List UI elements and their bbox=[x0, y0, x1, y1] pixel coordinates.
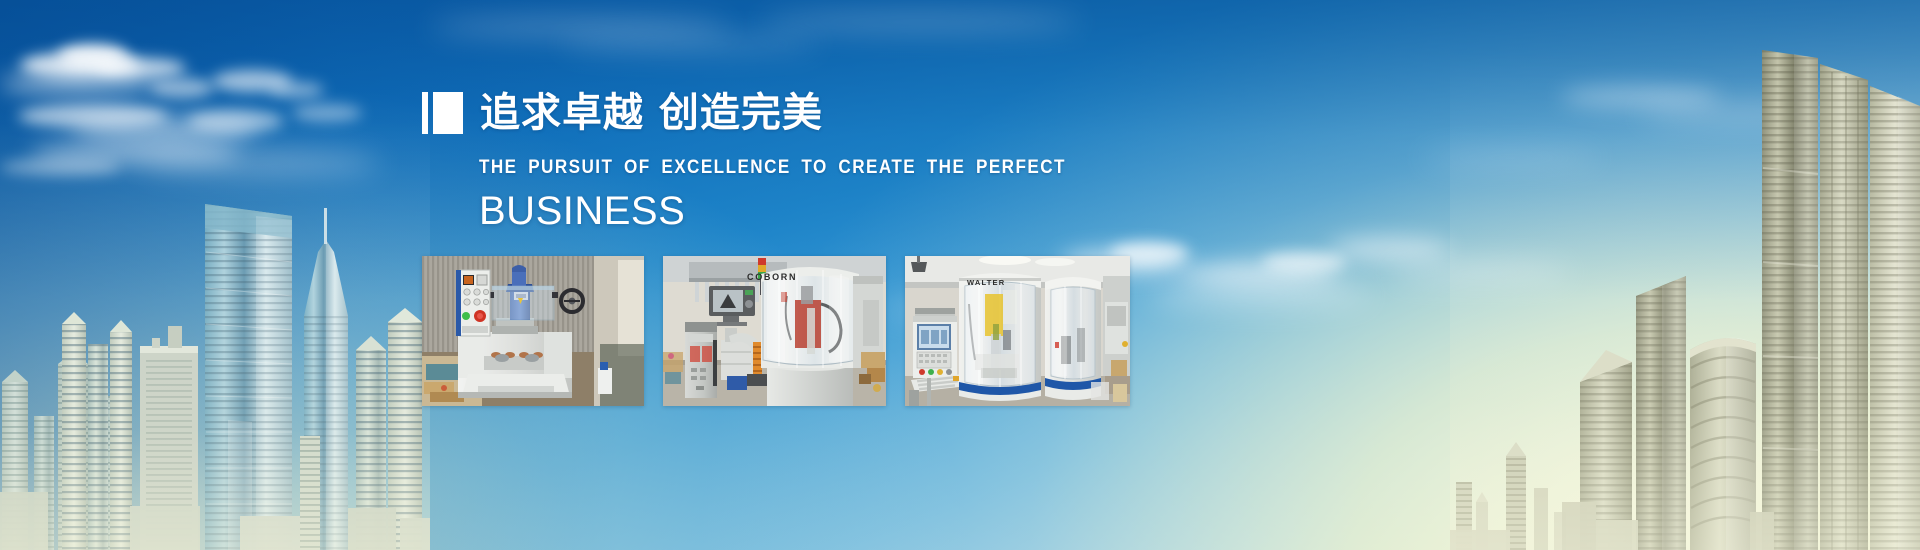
machine-photo-strip: COBORN bbox=[422, 256, 1130, 406]
logo-square-icon bbox=[433, 92, 463, 134]
machine-photo-1[interactable] bbox=[422, 256, 644, 406]
hero-banner: 追求卓越 创造完美 THE PURSUIT OF EXCELLENCE TO C… bbox=[0, 0, 1920, 550]
machine-photo-1-image bbox=[422, 256, 644, 406]
business-wordmark: BUSINESS bbox=[479, 188, 1202, 234]
logo-bar-icon bbox=[422, 92, 428, 134]
headline-chinese: 追求卓越 创造完美 bbox=[480, 92, 823, 134]
machine-photo-2[interactable]: COBORN bbox=[663, 256, 886, 406]
bar-and-square-logo-icon bbox=[422, 92, 463, 134]
machine-photo-3[interactable]: WALTER bbox=[905, 256, 1130, 406]
headline-row: 追求卓越 创造完美 bbox=[422, 88, 1202, 138]
machine-photo-3-image bbox=[905, 256, 1130, 406]
subtitle-english: THE PURSUIT OF EXCELLENCE TO CREATE THE … bbox=[479, 157, 1130, 179]
machine-photo-2-image bbox=[663, 256, 886, 406]
banner-copy: 追求卓越 创造完美 THE PURSUIT OF EXCELLENCE TO C… bbox=[422, 88, 1202, 234]
